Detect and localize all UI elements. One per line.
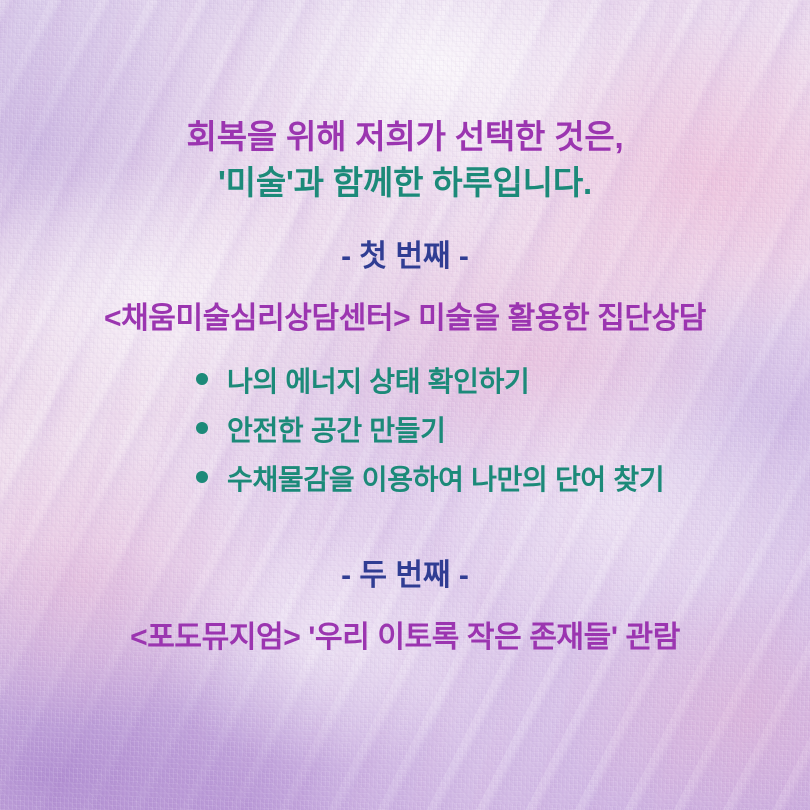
section-label-first: - 첫 번째 - [0, 238, 810, 276]
headline-line-2: '미술'과 함께한 하루입니다. [0, 160, 810, 206]
list-item: 안전한 공간 만들기 [196, 411, 664, 451]
card-content: 회복을 위해 저희가 선택한 것은, '미술'과 함께한 하루입니다. - 첫 … [0, 0, 810, 810]
list-item-label: 수채물감을 이용하여 나만의 단어 찾기 [227, 460, 664, 500]
watercolor-card: 회복을 위해 저희가 선택한 것은, '미술'과 함께한 하루입니다. - 첫 … [0, 0, 810, 810]
list-item: 나의 에너지 상태 확인하기 [196, 362, 664, 402]
list-item-label: 나의 에너지 상태 확인하기 [227, 362, 530, 402]
bullet-dot-icon [196, 373, 208, 385]
bullet-dot-icon [196, 471, 208, 483]
headline-block: 회복을 위해 저희가 선택한 것은, '미술'과 함께한 하루입니다. [0, 114, 810, 206]
bullet-dot-icon [196, 422, 208, 434]
section-title-first: <채움미술심리상담센터> 미술을 활용한 집단상담 [0, 299, 810, 339]
list-item-label: 안전한 공간 만들기 [227, 411, 446, 451]
section-label-second: - 두 번째 - [0, 557, 810, 595]
list-item: 수채물감을 이용하여 나만의 단어 찾기 [196, 460, 664, 500]
activity-bullet-list: 나의 에너지 상태 확인하기 안전한 공간 만들기 수채물감을 이용하여 나만의… [196, 362, 664, 500]
section-title-second: <포도뮤지엄> '우리 이토록 작은 존재들' 관람 [0, 618, 810, 658]
headline-line-1: 회복을 위해 저희가 선택한 것은, [0, 114, 810, 160]
